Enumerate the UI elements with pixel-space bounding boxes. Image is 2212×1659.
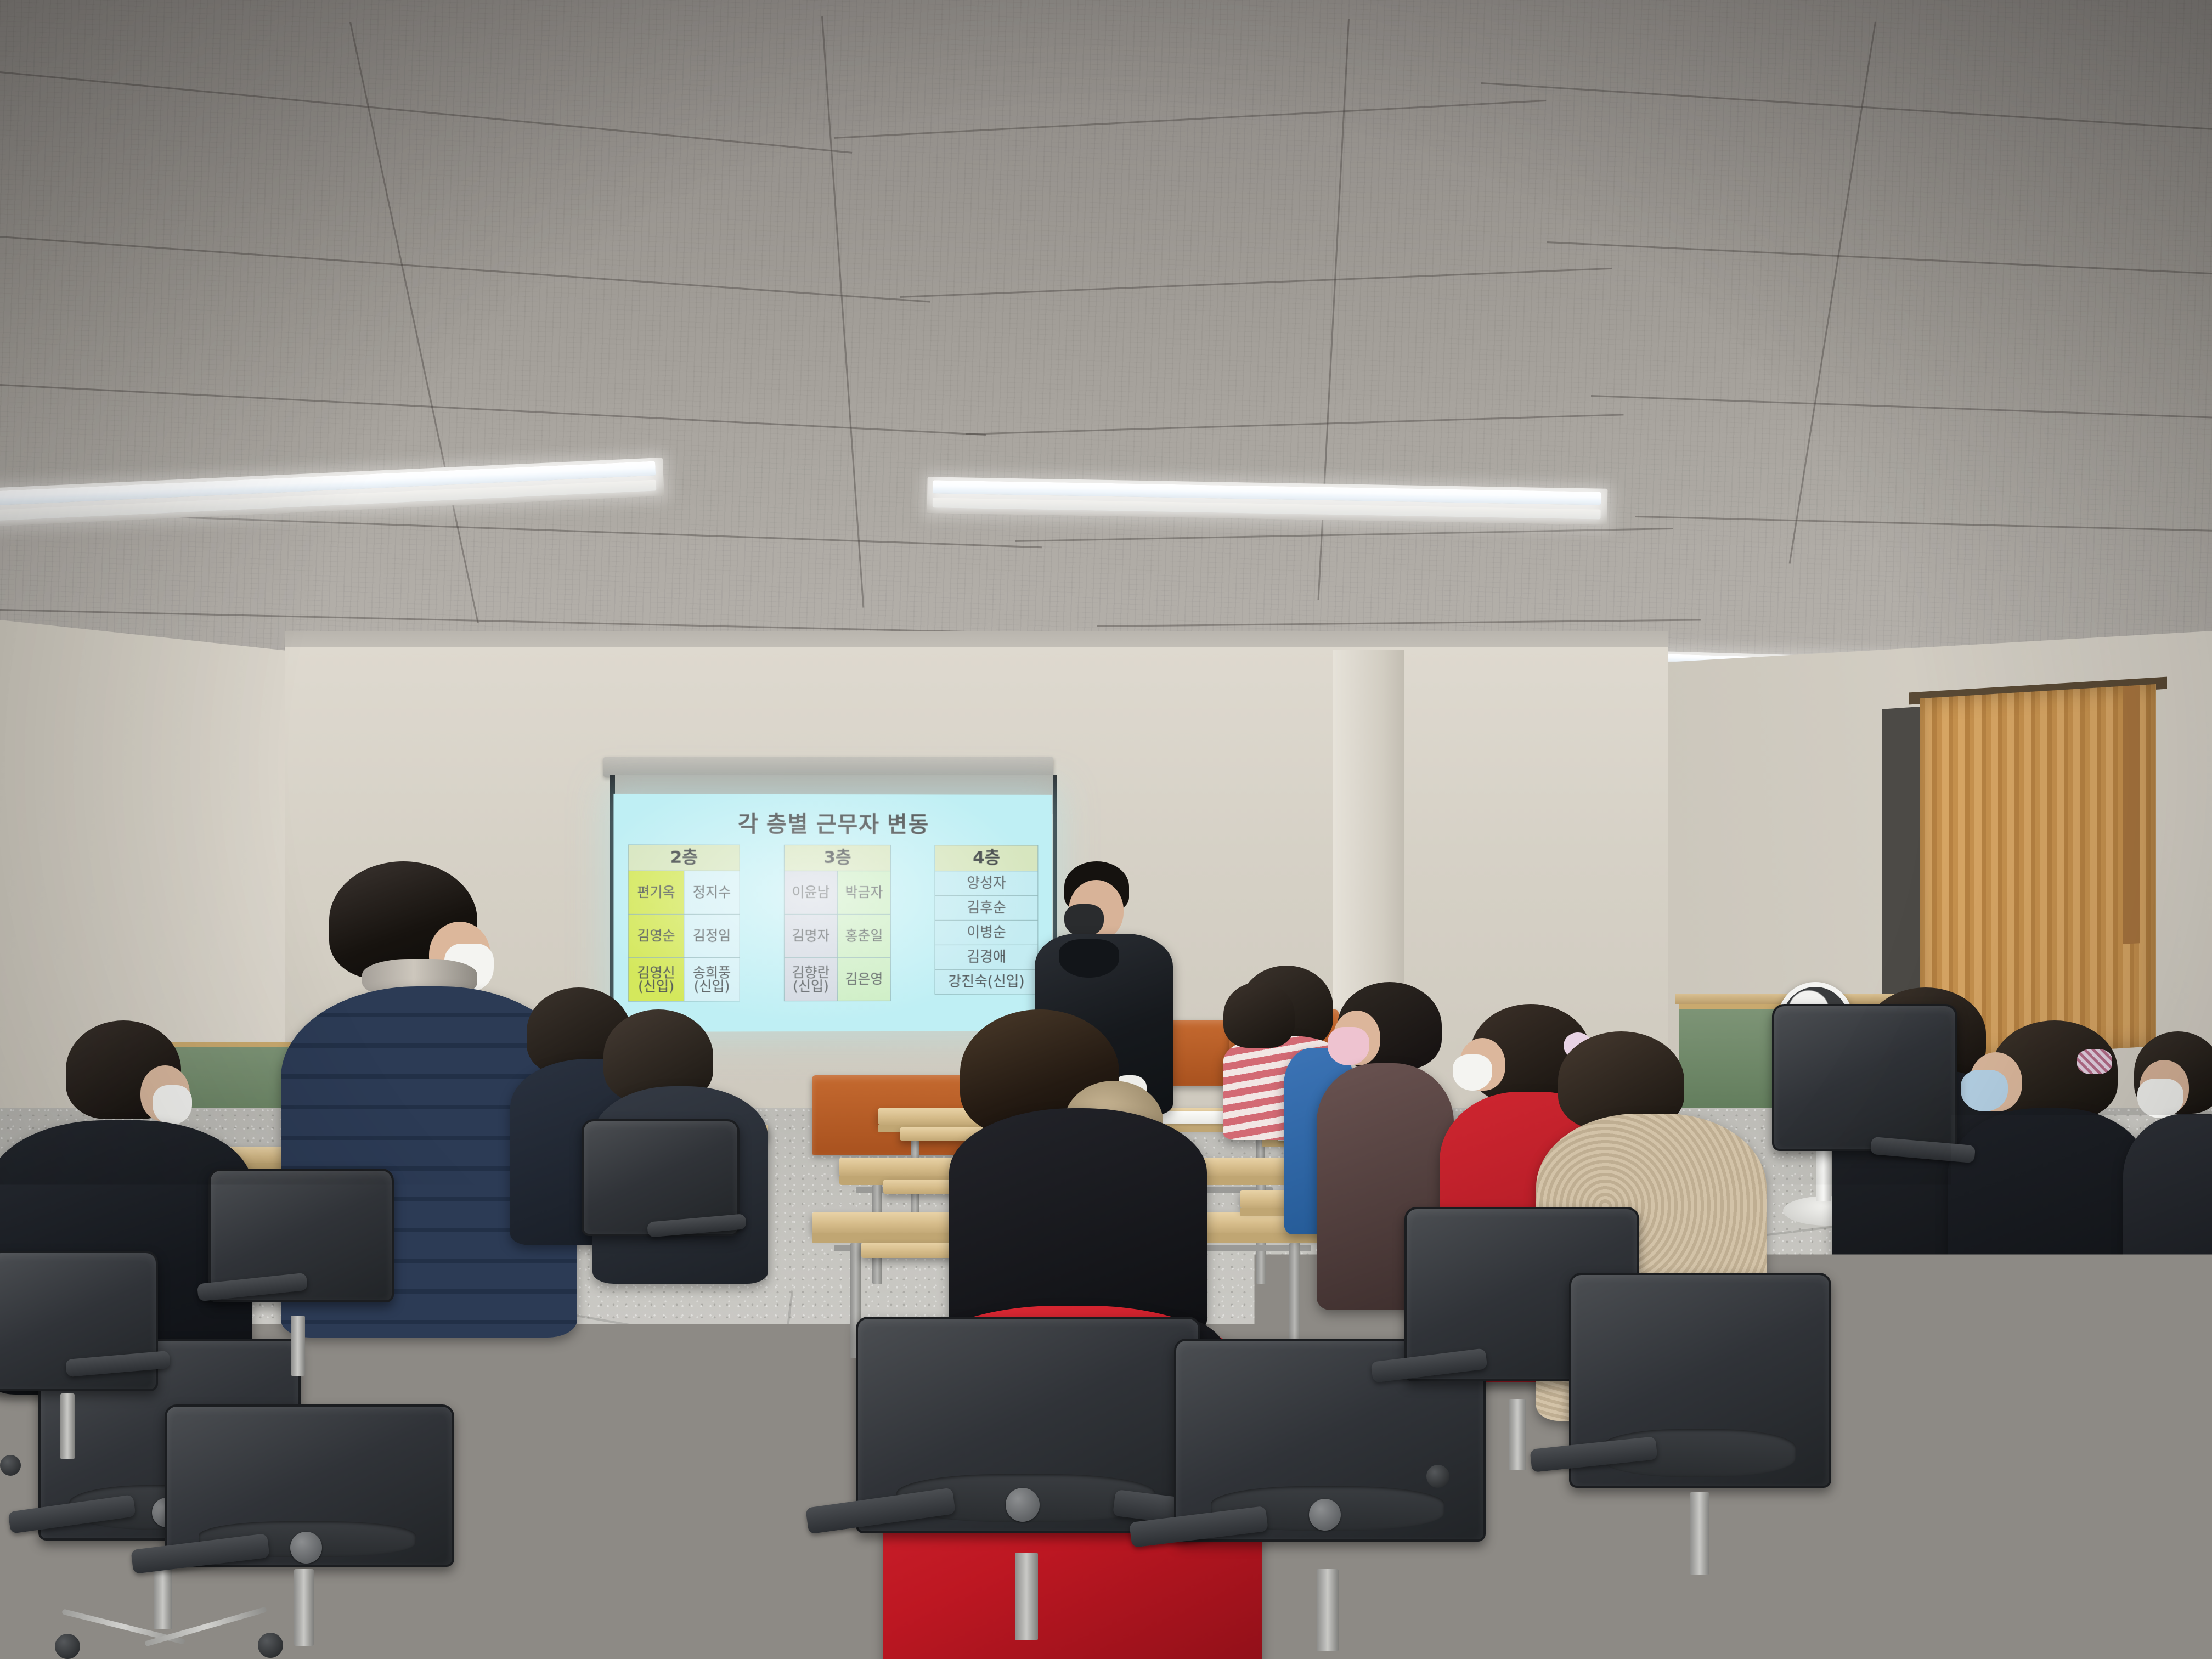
slide-title: 각 층별 근무자 변동 xyxy=(613,806,1052,838)
office-chair-left-mid[interactable] xyxy=(208,1169,390,1377)
table-cell-name: 김영신(신입) xyxy=(628,958,684,1001)
floor-table-3f: 3층이윤남박금자김명자홍춘일김향란(신입)김은영 xyxy=(784,845,891,1001)
chair-caster-1 xyxy=(55,1634,80,1659)
table-cell-name: 김정임 xyxy=(684,915,740,958)
office-chair-left-row[interactable] xyxy=(0,1251,154,1470)
table-row: 김영신(신입)송희풍(신입) xyxy=(628,958,740,1001)
ceiling-grid-lines xyxy=(0,0,2212,713)
table-row: 강진숙(신입) xyxy=(935,969,1038,994)
screen-housing xyxy=(603,757,1053,777)
table-cell-name: 편기옥 xyxy=(628,871,684,914)
floor-table-header: 2층 xyxy=(628,845,740,871)
table-row: 김영순김정임 xyxy=(628,915,740,958)
chair-gas-cylinder xyxy=(294,1569,314,1646)
office-chair-front-center-left[interactable] xyxy=(165,1404,450,1659)
table-cell-name: 강진숙(신입) xyxy=(935,969,1038,994)
table-cell-name: 김후순 xyxy=(935,896,1038,921)
table-row: 김향란(신입)김은영 xyxy=(784,957,890,1001)
far-right-face-mask xyxy=(2137,1079,2183,1118)
chair-caster xyxy=(1426,1465,1449,1488)
chair-adjust-knob[interactable] xyxy=(290,1532,322,1564)
table-row: 김명자홍춘일 xyxy=(784,914,890,957)
table-header-row: 4층 xyxy=(935,845,1038,871)
table-row: 이병순 xyxy=(935,920,1038,945)
chair-adjust-knob[interactable] xyxy=(1309,1499,1341,1531)
office-chair-right-rear[interactable] xyxy=(1772,1004,1953,1234)
slide-tables-container: 2층편기옥정지수김영순김정임김영신(신입)송희풍(신입) 3층이윤남박금자김명자… xyxy=(628,845,1039,1002)
chair-gas-cylinder xyxy=(1690,1492,1709,1575)
red-attendee-black-hood xyxy=(949,1108,1207,1339)
chair-gas-cylinder xyxy=(60,1393,75,1459)
floor-table-4f: 4층양성자김후순이병순김경애강진숙(신입) xyxy=(935,845,1039,994)
table-cell-name: 김은영 xyxy=(837,957,890,1001)
chair-gas-cylinder xyxy=(1015,1553,1038,1640)
presenter-face-mask xyxy=(1064,904,1104,937)
table-cell-name: 박금자 xyxy=(837,871,890,915)
table-cell-name: 김명자 xyxy=(784,914,837,957)
table-cell-name: 김향란(신입) xyxy=(784,957,837,1001)
floor-table-header: 3층 xyxy=(784,845,890,871)
chair-caster xyxy=(0,1455,21,1476)
table-row: 양성자 xyxy=(935,871,1038,896)
pinkmask-face-mask xyxy=(1328,1027,1369,1065)
table-row: 이윤남박금자 xyxy=(784,871,890,914)
meeting-room-scene: 각 층별 근무자 변동 2층편기옥정지수김영순김정임김영신(신입)송희풍(신입)… xyxy=(0,0,2212,1659)
bluemask-hair-clip xyxy=(2077,1049,2112,1074)
redhoodie-face-mask xyxy=(1453,1054,1492,1091)
table-row: 김경애 xyxy=(935,945,1038,969)
table-row: 편기옥정지수 xyxy=(628,871,740,914)
chair-caster xyxy=(702,1535,726,1559)
table-row: 김후순 xyxy=(935,896,1038,921)
chair-gas-cylinder xyxy=(291,1316,305,1376)
table-cell-name: 송희풍(신입) xyxy=(684,958,740,1001)
table-cell-name: 홍춘일 xyxy=(837,914,890,957)
chair-backrest xyxy=(1772,1004,1957,1151)
bluemask-face-mask xyxy=(1961,1070,2008,1111)
chair-gas-cylinder xyxy=(1509,1399,1526,1470)
projection-screen[interactable]: 각 층별 근무자 변동 2층편기옥정지수김영순김정임김영신(신입)송희풍(신입)… xyxy=(613,794,1052,1032)
table-cell-name: 이병순 xyxy=(935,920,1038,945)
door-frame xyxy=(2123,685,2140,944)
table-cell-name: 이윤남 xyxy=(784,871,837,914)
office-chair-center-front[interactable] xyxy=(856,1317,1196,1659)
table-header-row: 3층 xyxy=(784,845,890,871)
office-chair-left-far-back[interactable] xyxy=(647,1196,828,1426)
chair-gas-cylinder xyxy=(1317,1569,1339,1651)
floor-table-2f: 2층편기옥정지수김영순김정임김영신(신입)송희풍(신입) xyxy=(628,845,740,1002)
chair-gas-cylinder xyxy=(614,1459,632,1536)
office-chair-right-group-b[interactable] xyxy=(1569,1273,1827,1613)
table-cell-name: 김영순 xyxy=(628,915,684,958)
office-chair-far-right-front[interactable] xyxy=(1953,1328,2211,1659)
table-cell-name: 정지수 xyxy=(684,871,740,914)
chair-adjust-knob[interactable] xyxy=(1006,1488,1040,1522)
ceiling xyxy=(0,0,2212,713)
near-screen-hair xyxy=(1223,982,1295,1048)
table-header-row: 2층 xyxy=(628,845,740,871)
floor-table-header: 4층 xyxy=(935,845,1038,871)
chair-backrest xyxy=(647,1196,833,1343)
table-cell-name: 양성자 xyxy=(935,871,1038,896)
table-cell-name: 김경애 xyxy=(935,945,1038,969)
black-left-face-mask xyxy=(153,1085,192,1125)
